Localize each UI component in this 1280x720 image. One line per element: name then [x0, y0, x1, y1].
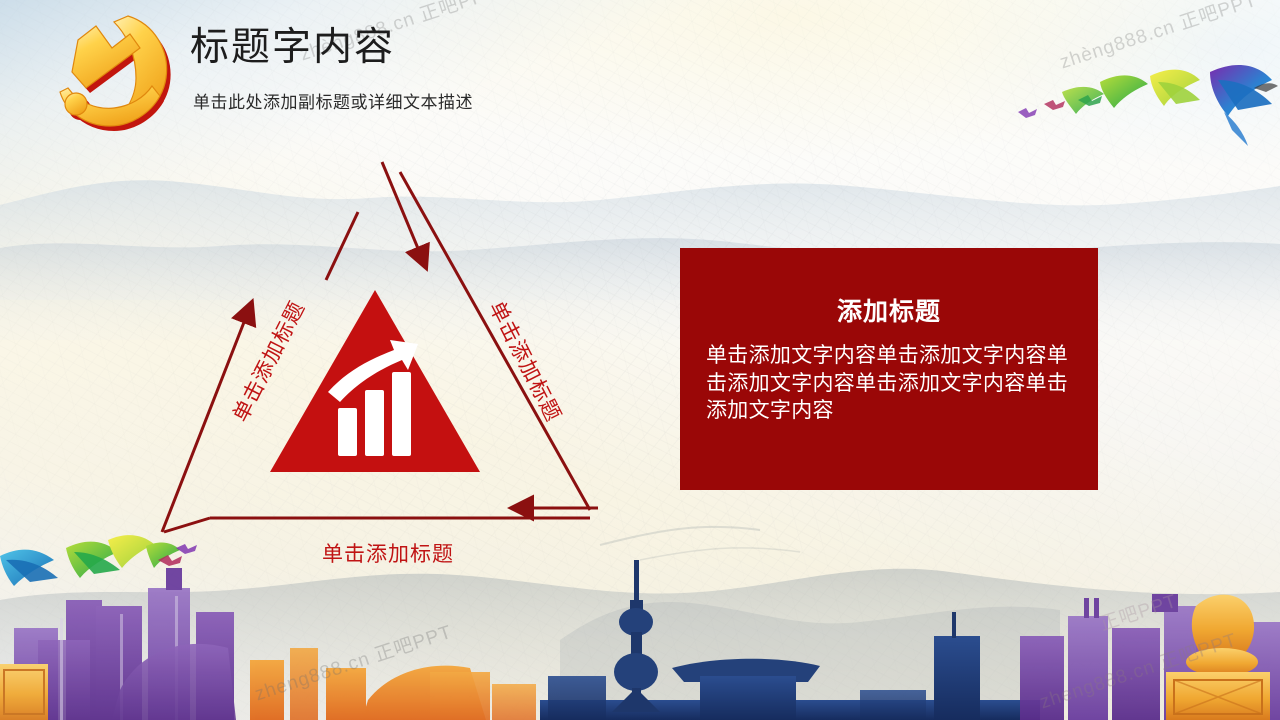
page-subtitle: 单击此处添加副标题或详细文本描述 [193, 88, 473, 113]
triangle-cycle-diagram: 单击添加标题 单击添加标题 单击添加标题 [150, 150, 650, 580]
triangle-apex-left-edge [326, 212, 358, 280]
line-bottom-left-tail [164, 518, 210, 532]
cpc-party-emblem-icon [52, 6, 184, 134]
arrow-left-up [162, 312, 248, 532]
content-panel: 添加标题 单击添加文字内容单击添加文字内容单击添加文字内容单击添加文字内容单击添… [680, 248, 1098, 490]
panel-body-text: 单击添加文字内容单击添加文字内容单击添加文字内容单击添加文字内容单击添加文字内容 [706, 342, 1072, 425]
panel-title: 添加标题 [706, 292, 1072, 328]
triangle-label-bottom: 单击添加标题 [322, 538, 454, 568]
slide-canvas: zhèng888.cn 正吧PPT zhèng888.cn 正吧PPT zhen… [0, 0, 1280, 720]
origami-birds-top-right [1018, 65, 1278, 146]
page-title: 标题字内容 [190, 28, 395, 67]
